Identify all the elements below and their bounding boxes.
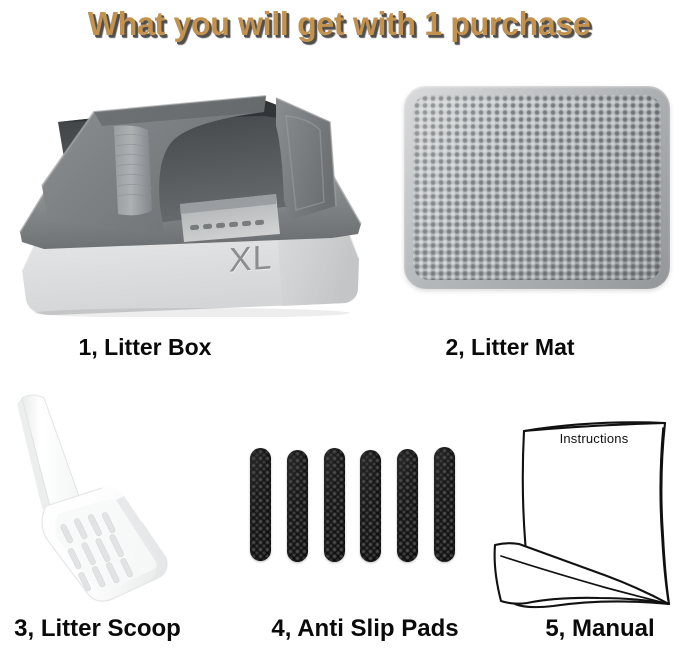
anti-slip-pad	[434, 447, 455, 562]
product-litter-scoop	[2, 388, 198, 606]
product-litter-box: XL	[14, 82, 366, 317]
litter-box-wall-right	[276, 98, 336, 220]
anti-slip-pad	[287, 450, 308, 562]
product-litter-mat	[404, 86, 670, 289]
anti-slip-pad	[250, 448, 271, 561]
litter-box-icon	[14, 82, 366, 317]
infographic-canvas: What you will get with 1 purchase	[0, 0, 679, 651]
caption-litter-box: 1, Litter Box	[20, 333, 270, 361]
litter-mat-honeycomb-surface	[413, 95, 661, 280]
product-manual: Instructions	[487, 398, 679, 610]
litter-box-corner-post	[114, 126, 152, 216]
page-title-text: What you will get with 1 purchase	[88, 2, 591, 46]
page-title: What you will get with 1 purchase	[0, 2, 679, 50]
anti-slip-pad	[397, 449, 418, 562]
caption-litter-scoop: 3, Litter Scoop	[0, 614, 195, 643]
manual-icon	[487, 398, 679, 610]
anti-slip-pad	[360, 450, 381, 562]
litter-scoop-icon	[2, 388, 198, 606]
anti-slip-pad	[324, 448, 345, 562]
product-anti-slip-pads	[250, 445, 455, 573]
litter-mat-border	[404, 86, 670, 289]
anti-slip-pads-row	[250, 445, 455, 573]
caption-anti-slip-pads: 4, Anti Slip Pads	[240, 614, 490, 643]
caption-litter-mat: 2, Litter Mat	[380, 333, 640, 361]
caption-manual: 5, Manual	[505, 614, 679, 643]
